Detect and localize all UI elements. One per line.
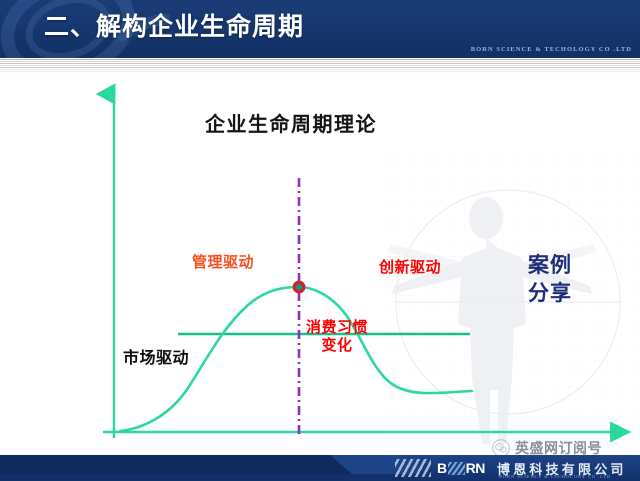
footer-company-en: BORN SCIENCE & TECHOLOGY CO .LTD bbox=[499, 474, 611, 479]
slide-header: 二、解构企业生命周期 BORN SCIENCE & TECHOLOGY CO .… bbox=[0, 0, 640, 58]
born-logo: B RN bbox=[437, 460, 485, 476]
footer-wedge-shape bbox=[0, 455, 420, 481]
label-consumption-line1: 消费习惯 bbox=[303, 319, 371, 337]
chart-title: 企业生命周期理论 bbox=[205, 108, 377, 137]
peak-transition-point bbox=[293, 281, 306, 294]
label-market-drive: 市场驱动 bbox=[123, 349, 189, 368]
label-consumption-habit: 消费习惯 变化 bbox=[303, 319, 371, 354]
slide-footer: B RN 博恩科技有限公司 BORN SCIENCE & TECHOLOGY C… bbox=[0, 455, 640, 481]
slide-canvas: 二、解构企业生命周期 BORN SCIENCE & TECHOLOGY CO .… bbox=[0, 0, 640, 481]
born-logo-mark bbox=[448, 462, 465, 475]
page-title: 二、解构企业生命周期 bbox=[44, 9, 304, 45]
born-logo-right: RN bbox=[466, 460, 485, 476]
header-stripes-divider bbox=[0, 58, 640, 74]
header-company-line: BORN SCIENCE & TECHOLOGY CO .LTD bbox=[471, 46, 632, 53]
case-share-line2: 分享 bbox=[528, 280, 572, 308]
label-innovate-drive: 创新驱动 bbox=[379, 259, 441, 277]
case-share-line1: 案例 bbox=[528, 252, 572, 280]
born-logo-left: B bbox=[437, 460, 447, 476]
case-share-callout: 案例 分享 bbox=[528, 252, 572, 307]
footer-slashes-decoration bbox=[395, 459, 431, 477]
label-consumption-line2: 变化 bbox=[303, 337, 371, 355]
label-manage-drive: 管理驱动 bbox=[192, 254, 254, 272]
slide-body: 企业生命周期理论 管理驱动 创新驱动 市场驱动 消费习惯 变化 案例 分享 bbox=[0, 74, 640, 455]
